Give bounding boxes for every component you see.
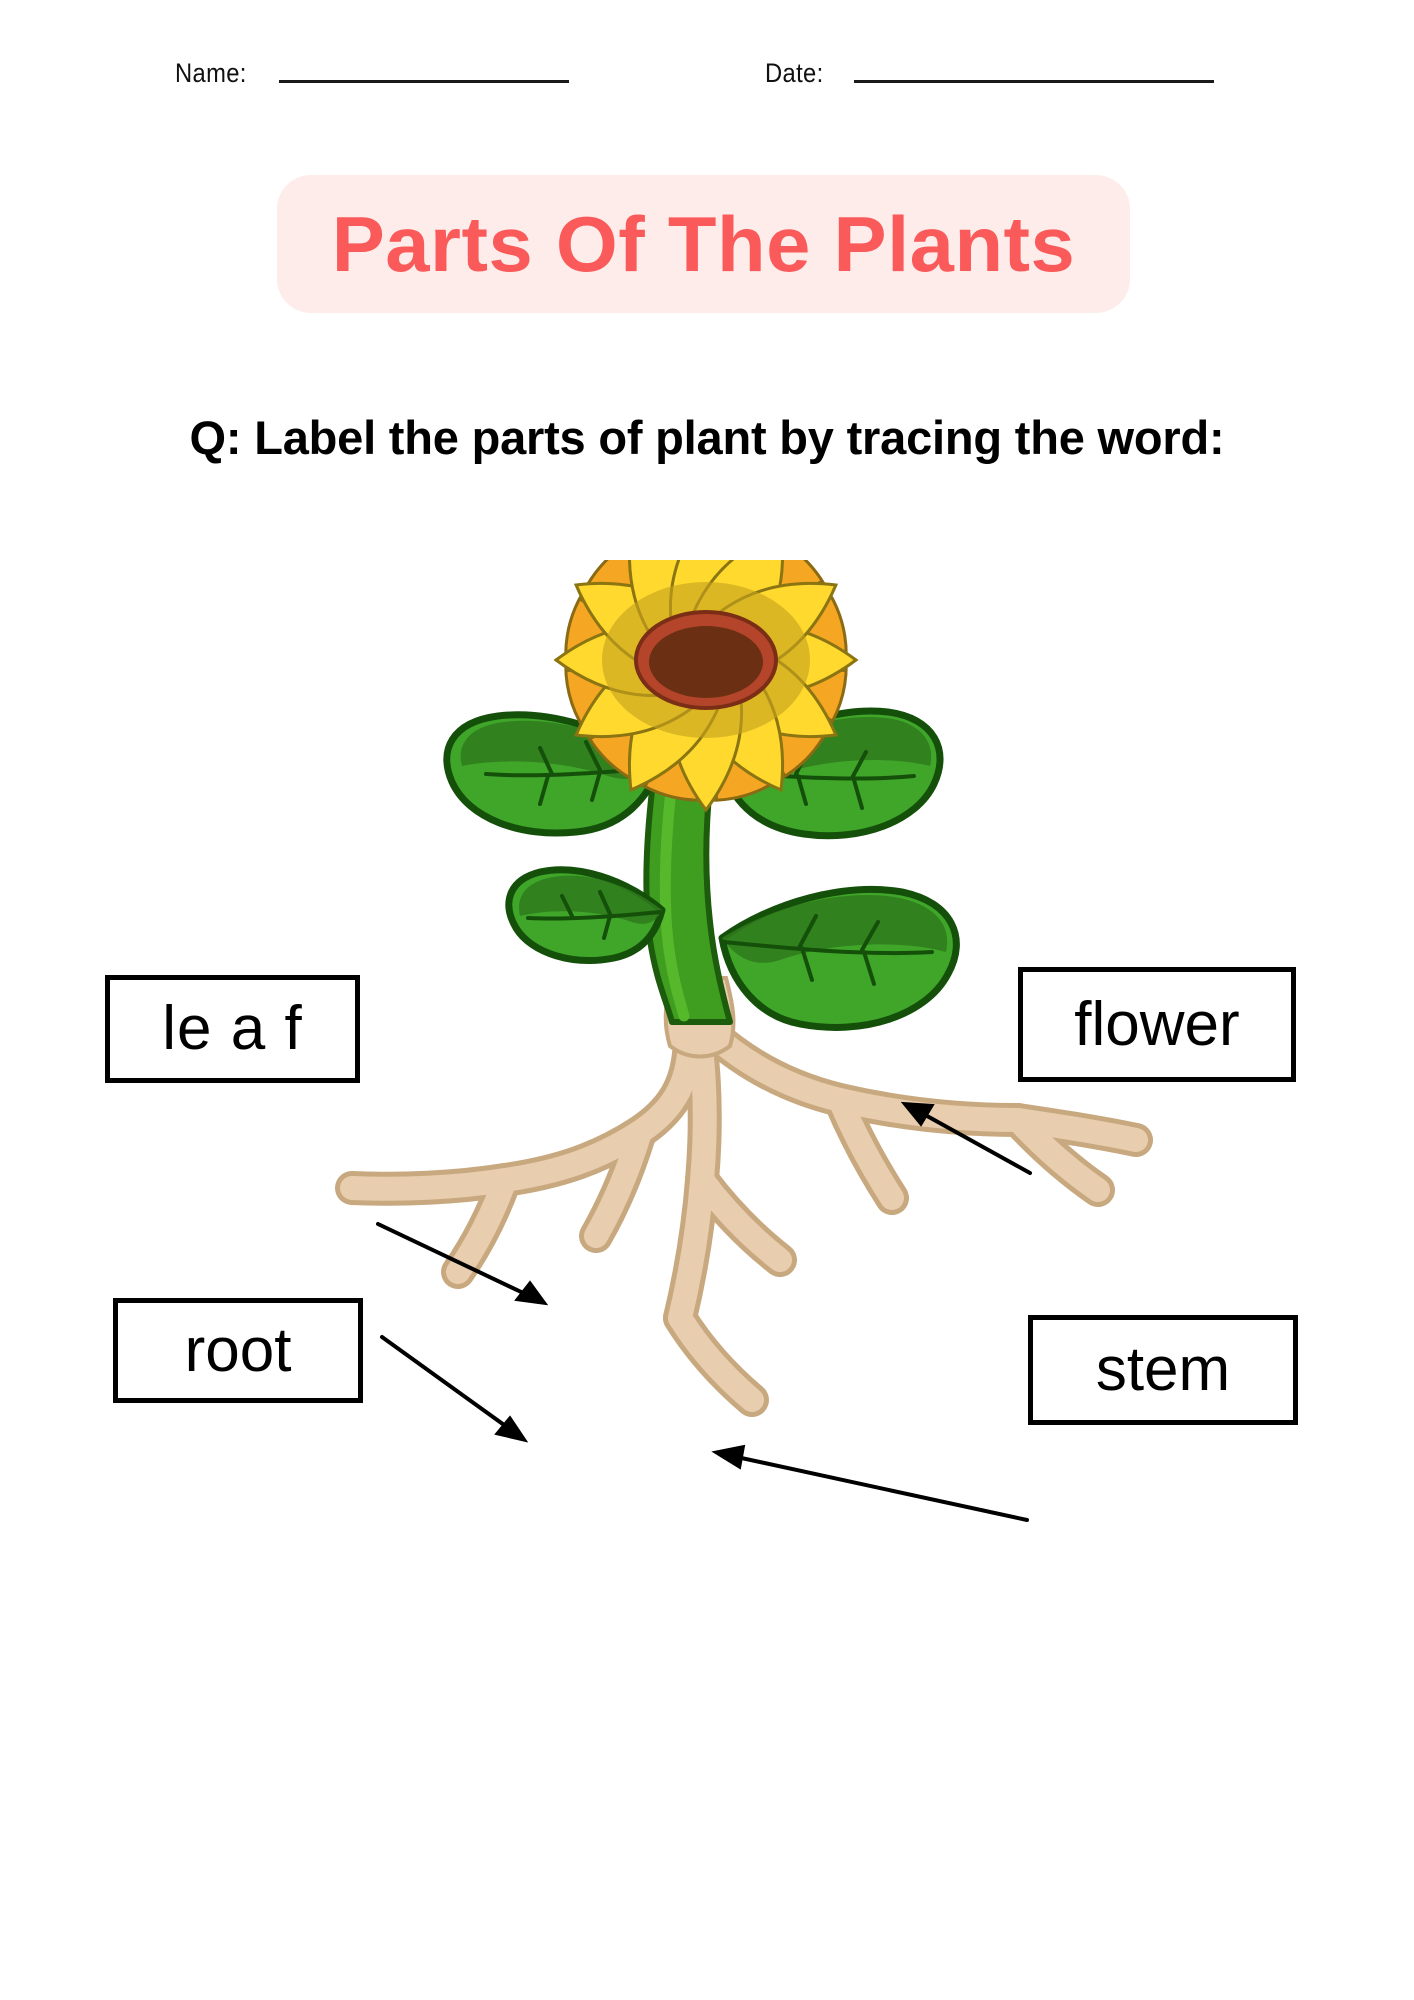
leaf-mid-left [509, 870, 662, 961]
name-field: Name: [175, 60, 569, 87]
date-label: Date: [765, 60, 824, 87]
label-box-root[interactable]: root [113, 1298, 363, 1403]
label-box-stem[interactable]: stem [1028, 1315, 1298, 1425]
label-text-leaf: le a f [162, 998, 302, 1060]
label-text-flower: flower [1074, 994, 1239, 1056]
page-title: Parts Of The Plants [332, 205, 1076, 283]
label-text-stem: stem [1096, 1339, 1230, 1401]
leaf-lower-right [722, 889, 956, 1027]
label-box-leaf[interactable]: le a f [105, 975, 360, 1083]
label-text-root: root [185, 1320, 292, 1382]
question-text: Q: Label the parts of plant by tracing t… [0, 410, 1414, 466]
name-label: Name: [175, 60, 247, 87]
plant-diagram [0, 560, 1414, 1620]
label-box-flower[interactable]: flower [1018, 967, 1296, 1082]
roots [352, 1034, 1136, 1400]
name-write-line[interactable] [279, 80, 569, 83]
plant-illustration [0, 560, 1414, 1620]
arrow-to-stem [714, 1446, 1027, 1520]
arrow-to-root [382, 1337, 526, 1441]
title-banner: Parts Of The Plants [277, 175, 1130, 313]
flower-center-inner [649, 626, 763, 698]
date-write-line[interactable] [854, 80, 1214, 83]
date-field: Date: [765, 60, 1214, 87]
